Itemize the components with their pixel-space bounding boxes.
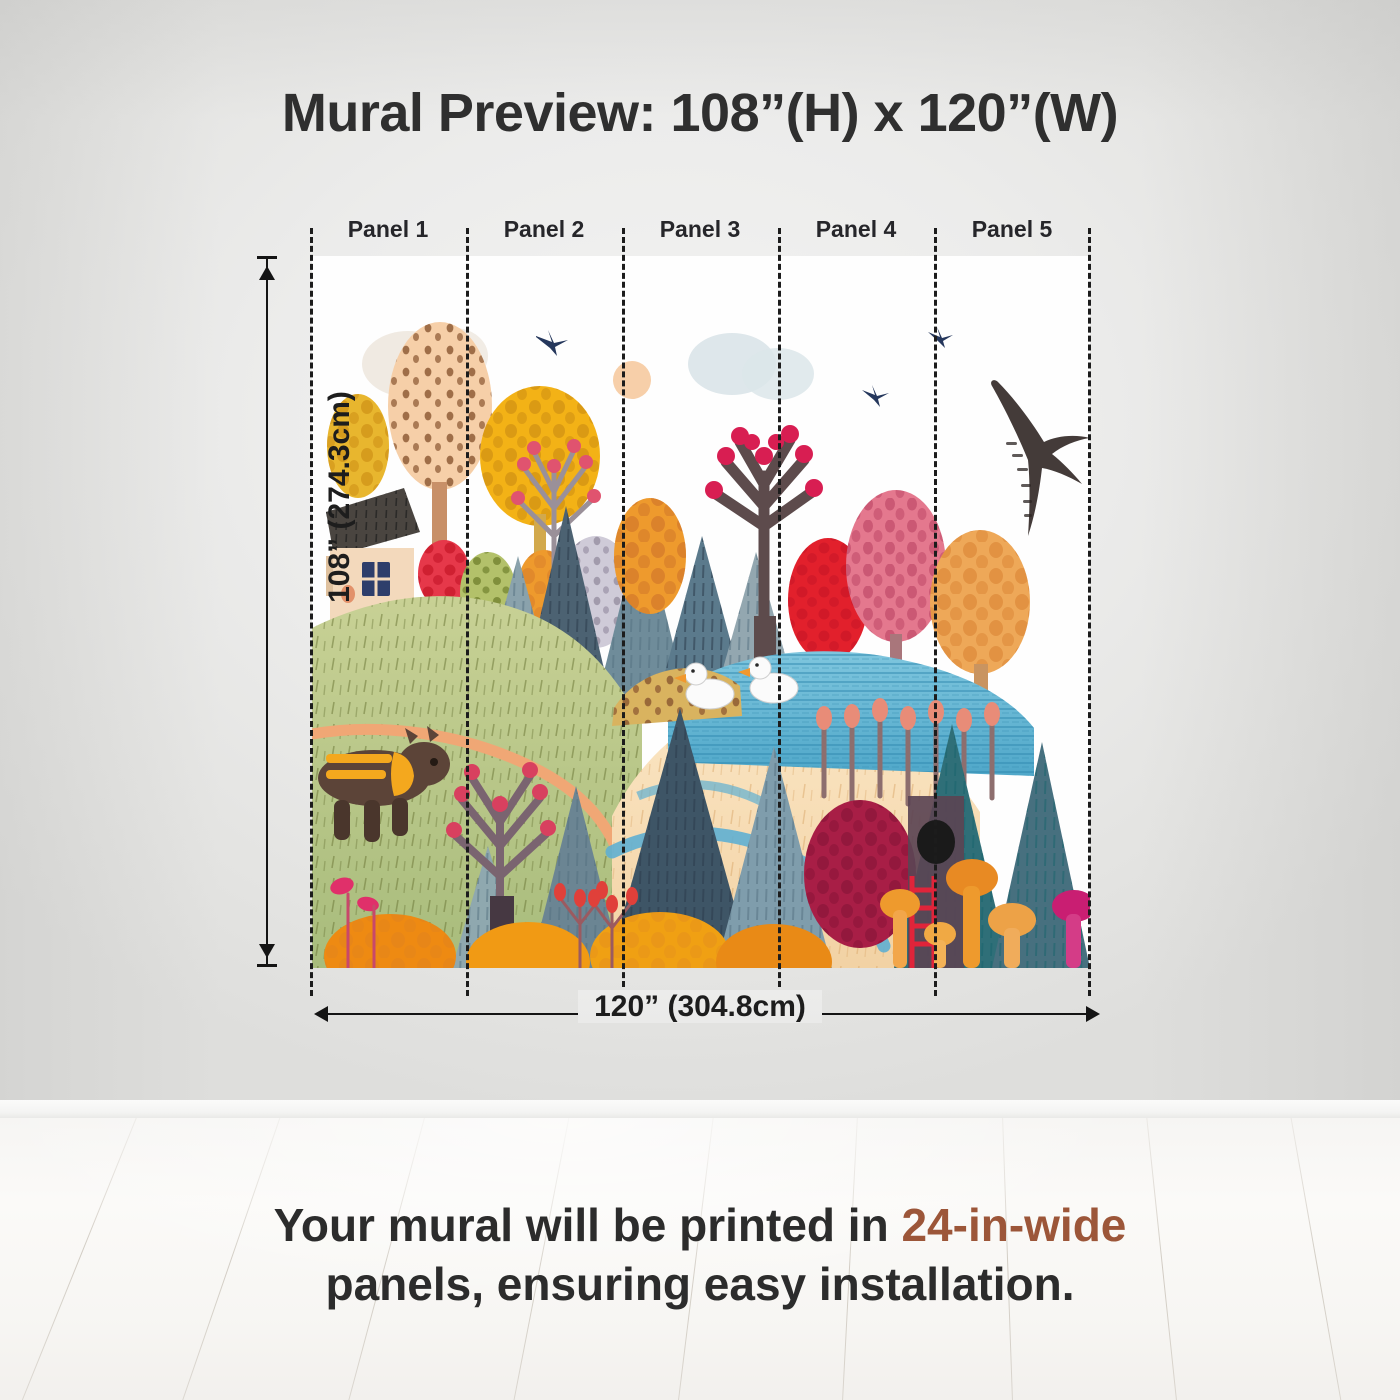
caption-line-2: panels, ensuring easy installation.	[0, 1255, 1400, 1314]
panel-divider-4	[934, 228, 937, 996]
panel-divider-5	[1088, 228, 1091, 996]
wall-right-shadow	[1140, 0, 1400, 1118]
panel-divider-1	[466, 228, 469, 996]
height-cap-bottom	[257, 964, 277, 967]
caption-line-1: Your mural will be printed in 24-in-wide	[0, 1196, 1400, 1255]
width-dimension-text: 120” (304.8cm)	[578, 990, 822, 1023]
height-arrow-down	[259, 944, 275, 958]
caption-accent-panel-width: 24-in-wide	[901, 1199, 1126, 1251]
panel-label-4: Panel 4	[778, 216, 934, 243]
wall-left-shadow	[0, 0, 220, 1118]
height-dimension-line	[266, 258, 268, 966]
page-title: Mural Preview: 108”(H) x 120”(W)	[0, 82, 1400, 144]
footer-caption: Your mural will be printed in 24-in-wide…	[0, 1196, 1400, 1314]
mural-preview-page: Mural Preview: 108”(H) x 120”(W)	[0, 0, 1400, 1400]
width-dimension-label: 120” (304.8cm)	[0, 990, 1400, 1024]
panel-label-5: Panel 5	[934, 216, 1090, 243]
panel-divider-2	[622, 228, 625, 996]
panel-label-3: Panel 3	[622, 216, 778, 243]
panel-label-2: Panel 2	[466, 216, 622, 243]
height-dimension-label: 108” (274.3cm)	[323, 347, 357, 647]
caption-line-1-before: Your mural will be printed in	[274, 1199, 902, 1251]
panel-divider-3	[778, 228, 781, 996]
mural-preview-frame[interactable]	[312, 256, 1090, 968]
height-arrow-up	[259, 266, 275, 280]
panel-label-1: Panel 1	[310, 216, 466, 243]
height-cap-top	[257, 256, 277, 259]
panel-divider-0	[310, 228, 313, 996]
mural-artwork	[312, 256, 1090, 968]
